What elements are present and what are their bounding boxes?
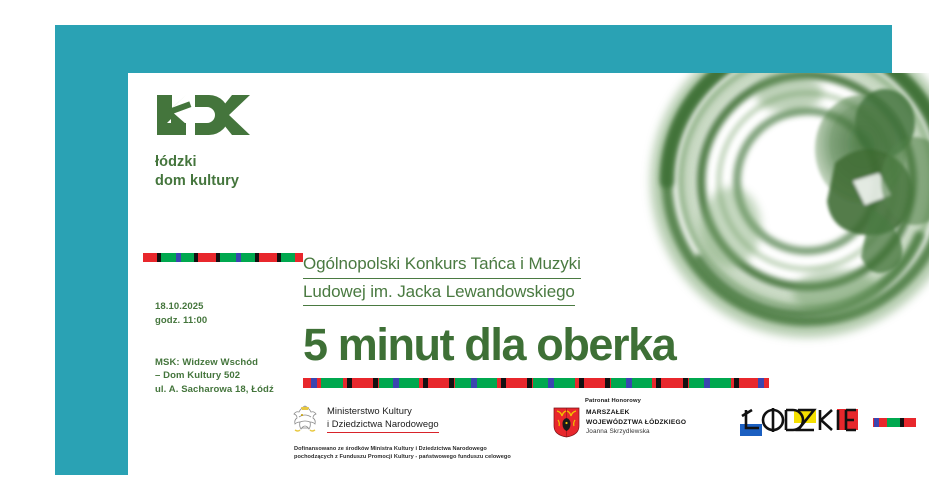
ldk-logo-line1: łódzki [155, 153, 251, 172]
ministry-name: Ministerstwo Kultury i Dziedzictwa Narod… [327, 405, 439, 433]
ldk-logo-wordmark: łódzki dom kultury [155, 153, 251, 190]
event-venue: MSK: Widzew Wschód – Dom Kultury 502 ul.… [143, 356, 303, 397]
venue-line-1: MSK: Widzew Wschód [155, 356, 303, 370]
polish-eagle-emblem-icon [290, 403, 320, 435]
poster-card: łódzki dom kultury [128, 73, 929, 477]
lodzkie-voivodeship-crest-icon [553, 407, 580, 438]
event-headline: 5 minut dla oberka [303, 322, 803, 367]
marshal-person: Joanna Skrzydlewska [586, 427, 686, 437]
event-subtitle-line1: Ogólnopolski Konkurs Tańca i Muzyki [303, 251, 581, 279]
marshal-line-1: MARSZAŁEK [586, 408, 686, 417]
event-subtitle-line2: Ludowej im. Jacka Lewandowskiego [303, 279, 575, 307]
honorary-patronage-block: Patronat Honorowy MARSZAŁEK WOJE [553, 398, 753, 438]
patronage-label: Patronat Honorowy [585, 398, 753, 404]
event-datetime: 18.10.2025 godz. 11:00 [143, 300, 303, 328]
venue-line-2: – Dom Kultury 502 [155, 369, 303, 383]
event-details-column: 18.10.2025 godz. 11:00 MSK: Widzew Wschó… [143, 253, 303, 397]
funding-disclaimer: Dofinansowano ze środków Ministra Kultur… [294, 445, 540, 462]
event-subtitle: Ogólnopolski Konkurs Tańca i Muzyki Ludo… [303, 251, 803, 306]
folk-stripe-small [143, 253, 303, 262]
event-time: godz. 11:00 [155, 314, 303, 328]
venue-line-3: ul. A. Sacharowa 18, Łódź [155, 383, 303, 397]
poster-canvas: łódzki dom kultury [0, 0, 945, 500]
funding-line-1: Dofinansowano ze środków Ministra Kultur… [294, 445, 540, 453]
sponsor-footer: Ministerstwo Kultury i Dziedzictwa Narod… [128, 398, 929, 477]
event-title-block: Ogólnopolski Konkurs Tańca i Muzyki Ludo… [303, 251, 803, 367]
funding-line-2: pochodzących z Funduszu Promocji Kultury… [294, 453, 540, 461]
ldk-logo-line2: dom kultury [155, 172, 251, 191]
marshal-line-2: WOJEWÓDZTWA ŁÓDZKIEGO [586, 418, 686, 427]
folk-stripe-wide [303, 378, 769, 388]
teal-frame: łódzki dom kultury [55, 25, 892, 475]
ldk-monogram-icon [155, 93, 251, 137]
ministry-line-1: Ministerstwo Kultury [327, 405, 439, 418]
lodzkie-logo-icon [738, 406, 860, 438]
event-date: 18.10.2025 [155, 300, 303, 314]
lodzkie-region-logo [738, 406, 860, 438]
ministry-of-culture-logo: Ministerstwo Kultury i Dziedzictwa Narod… [290, 403, 540, 462]
ldk-logo: łódzki dom kultury [155, 93, 251, 190]
folk-stripe-mini [873, 418, 916, 427]
ministry-line-2: i Dziedzictwa Narodowego [327, 418, 439, 431]
